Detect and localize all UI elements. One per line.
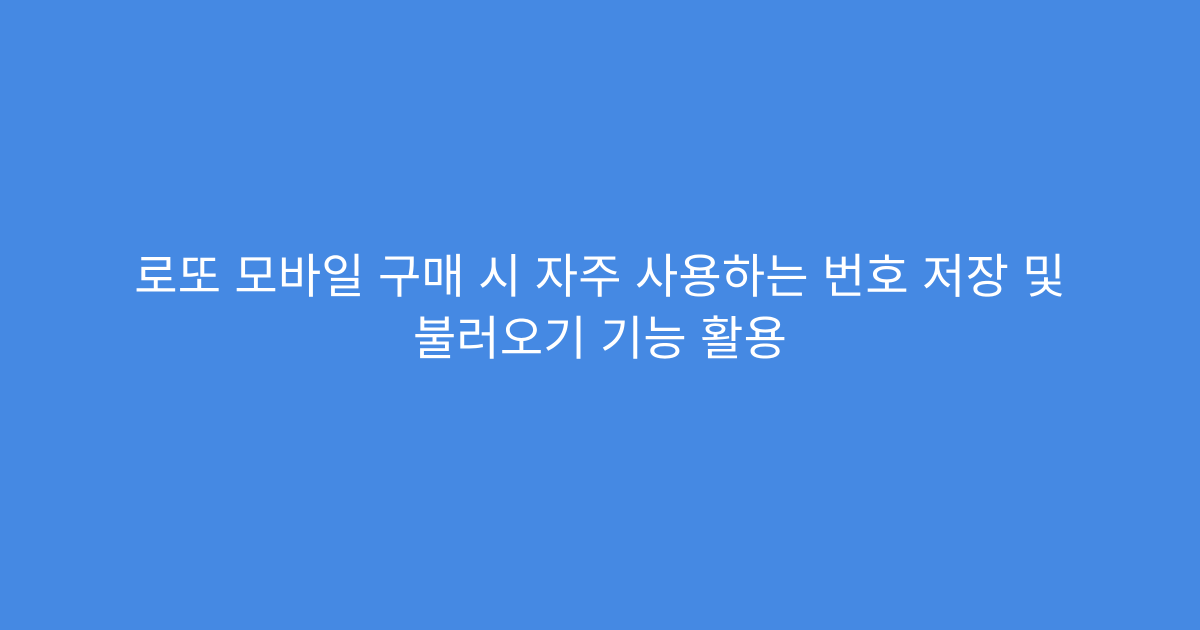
title-card: 로또 모바일 구매 시 자주 사용하는 번호 저장 및 불러오기 기능 활용	[0, 0, 1200, 630]
page-title: 로또 모바일 구매 시 자주 사용하는 번호 저장 및 불러오기 기능 활용	[70, 246, 1130, 370]
headline-block: 로또 모바일 구매 시 자주 사용하는 번호 저장 및 불러오기 기능 활용	[70, 246, 1130, 370]
